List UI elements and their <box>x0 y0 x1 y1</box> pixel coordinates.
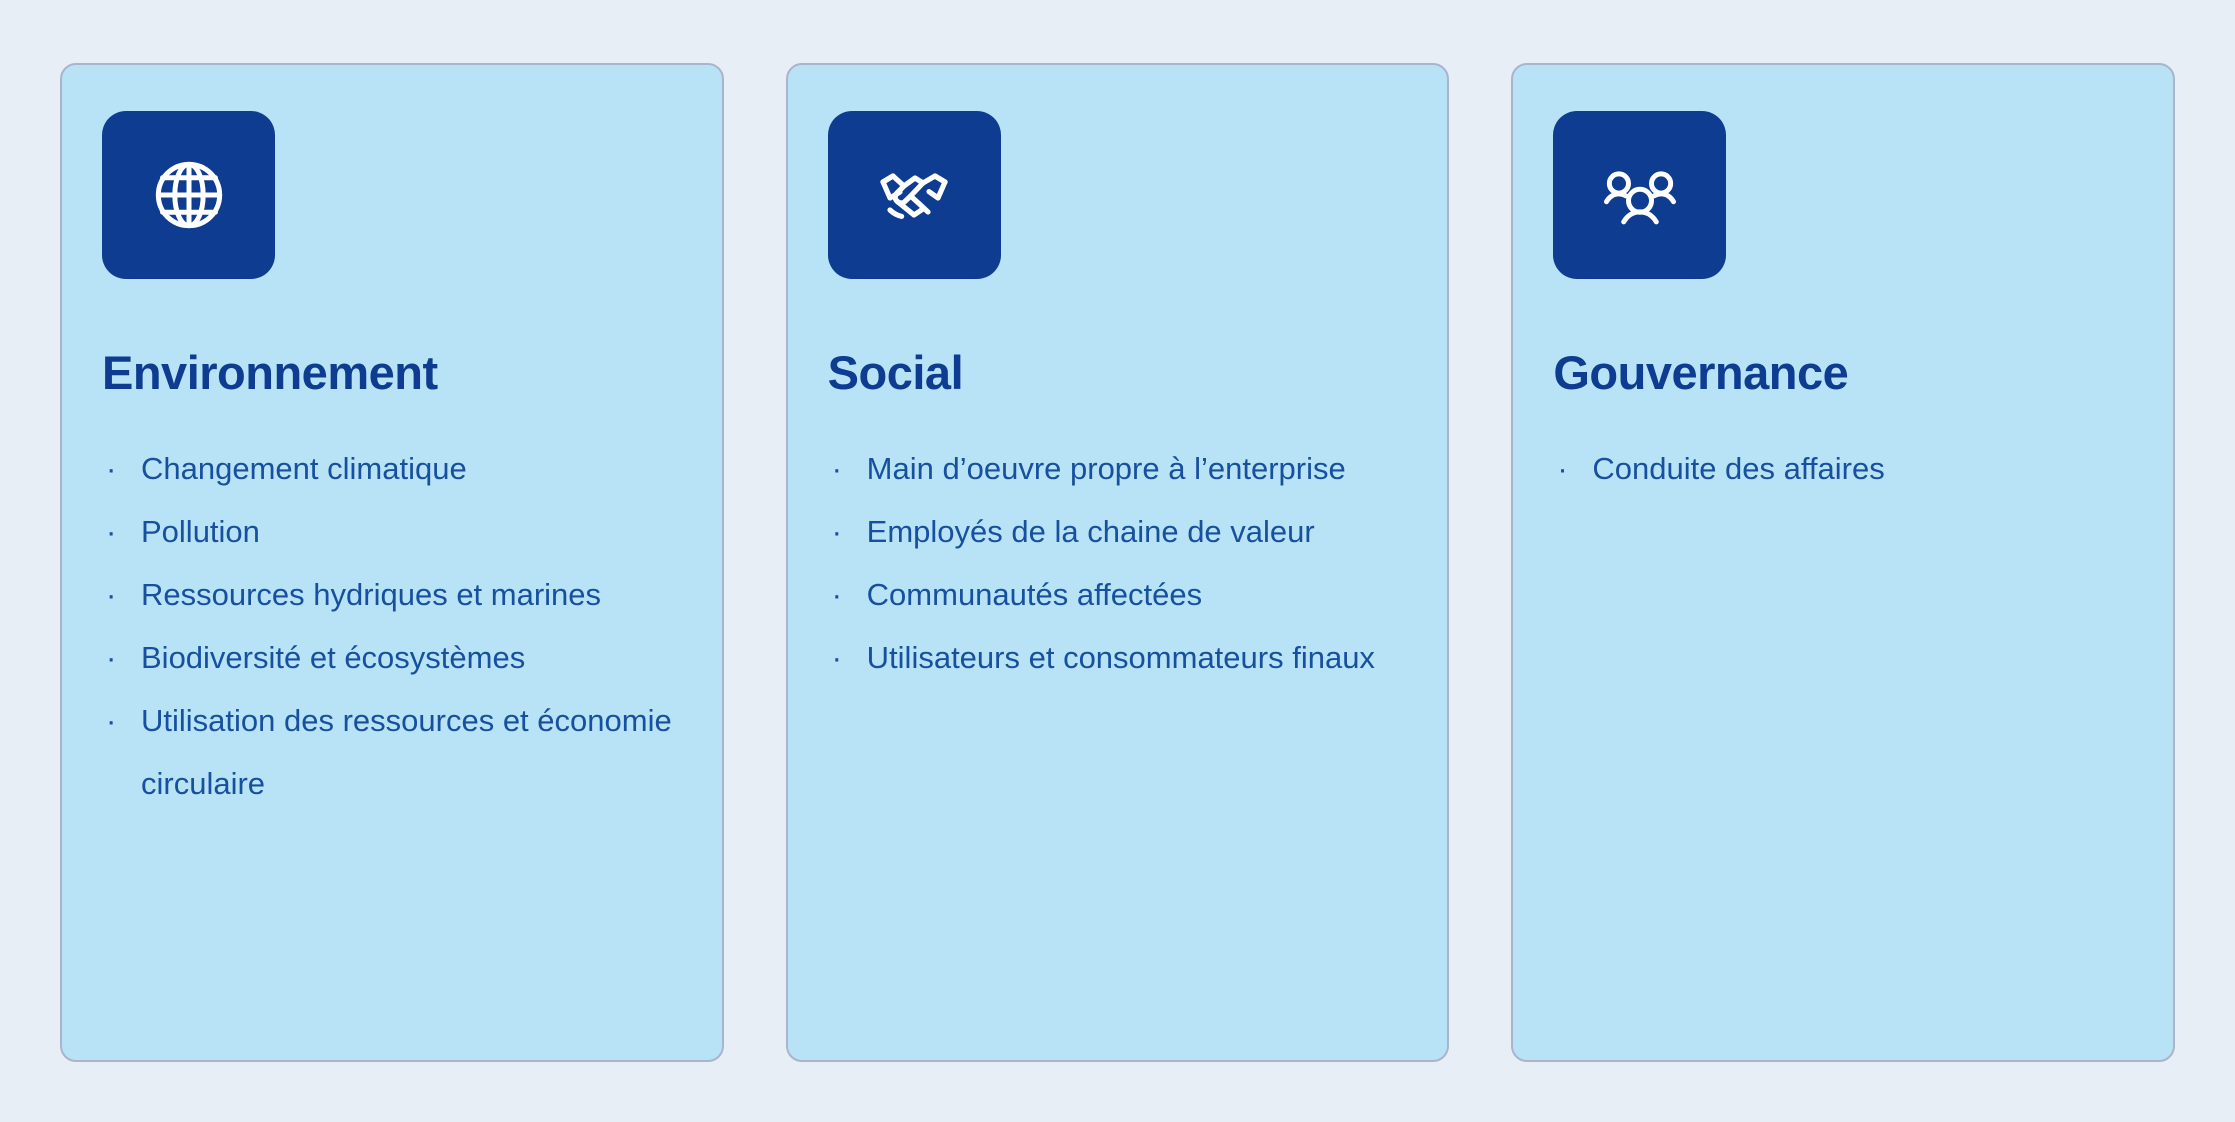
bullet-marker-icon: · <box>832 500 842 563</box>
list-item: · Utilisateurs et consommateurs finaux <box>828 626 1406 689</box>
bullet-marker-icon: · <box>106 500 116 563</box>
bullet-marker-icon: · <box>106 563 116 626</box>
list-item: · Conduite des affaires <box>1553 437 2131 500</box>
icon-tile-gouvernance <box>1553 111 1726 279</box>
people-group-icon <box>1594 149 1686 241</box>
list-item: · Main d’oeuvre propre à l’enterprise <box>828 437 1406 500</box>
list-item-label: Pollution <box>141 500 680 563</box>
list-item-label: Changement climatique <box>141 437 680 500</box>
card-title-social: Social <box>828 349 1406 396</box>
bullet-marker-icon: · <box>106 437 116 500</box>
icon-tile-social <box>828 111 1001 279</box>
bullet-marker-icon: · <box>832 563 842 626</box>
bullet-marker-icon: · <box>106 689 116 752</box>
bullet-marker-icon: · <box>106 626 116 689</box>
list-item: · Ressources hydriques et marines <box>102 563 680 626</box>
list-item: · Biodiversité et écosystèmes <box>102 626 680 689</box>
bullet-list-gouvernance: · Conduite des affaires <box>1553 437 2131 500</box>
list-item: · Pollution <box>102 500 680 563</box>
card-environnement: Environnement · Changement climatique · … <box>60 63 724 1062</box>
bullet-marker-icon: · <box>832 437 842 500</box>
list-item: · Utilisation des ressources et économie… <box>102 689 680 815</box>
bullet-list-social: · Main d’oeuvre propre à l’enterprise · … <box>828 437 1406 689</box>
list-item-label: Conduite des affaires <box>1592 437 2131 500</box>
globe-icon <box>143 149 235 241</box>
icon-tile-environnement <box>102 111 275 279</box>
esg-pillars-board: Environnement · Changement climatique · … <box>0 0 2235 1122</box>
list-item-label: Utilisation des ressources et économie c… <box>141 689 680 815</box>
list-item: · Communautés affectées <box>828 563 1406 626</box>
list-item-label: Main d’oeuvre propre à l’enterprise <box>867 437 1406 500</box>
card-social: Social · Main d’oeuvre propre à l’enterp… <box>786 63 1450 1062</box>
list-item-label: Ressources hydriques et marines <box>141 563 680 626</box>
list-item: · Changement climatique <box>102 437 680 500</box>
bullet-marker-icon: · <box>832 626 842 689</box>
card-title-gouvernance: Gouvernance <box>1553 349 2131 396</box>
list-item-label: Employés de la chaine de valeur <box>867 500 1406 563</box>
bullet-marker-icon: · <box>1557 437 1567 500</box>
list-item-label: Biodiversité et écosystèmes <box>141 626 680 689</box>
list-item-label: Communautés affectées <box>867 563 1406 626</box>
card-title-environnement: Environnement <box>102 349 680 396</box>
card-gouvernance: Gouvernance · Conduite des affaires <box>1511 63 2175 1062</box>
list-item: · Employés de la chaine de valeur <box>828 500 1406 563</box>
bullet-list-environnement: · Changement climatique · Pollution · Re… <box>102 437 680 815</box>
handshake-icon <box>866 147 962 243</box>
list-item-label: Utilisateurs et consommateurs finaux <box>867 626 1406 689</box>
